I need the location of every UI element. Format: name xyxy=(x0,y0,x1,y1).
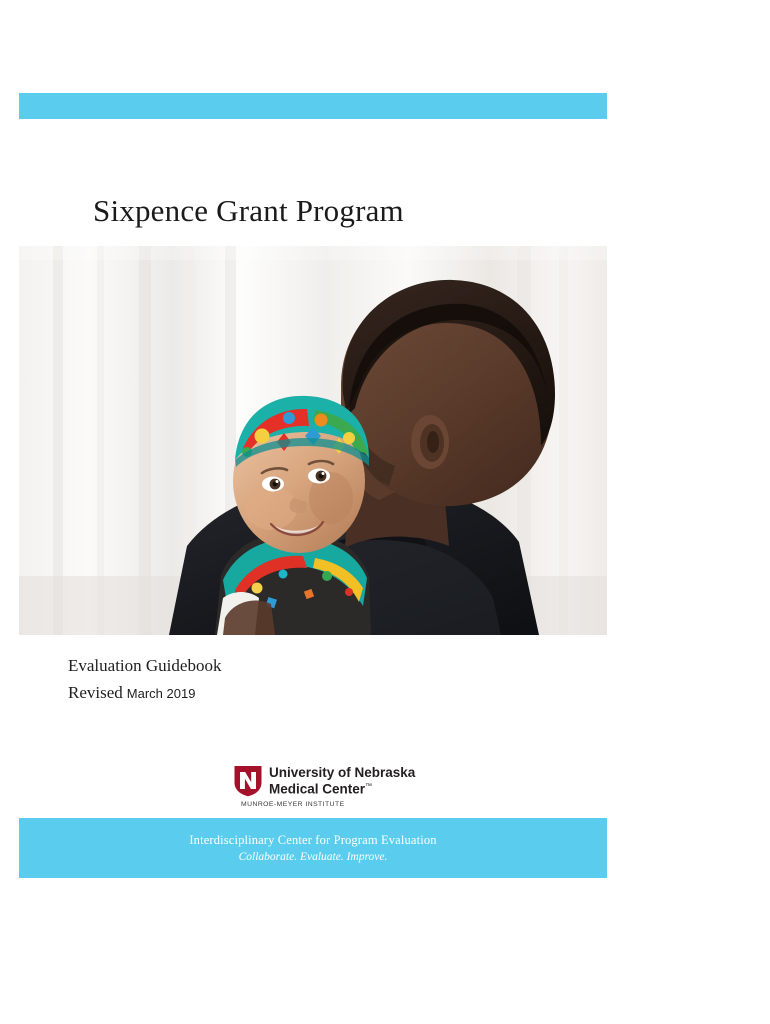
cover-photo-illustration xyxy=(19,246,607,635)
logo-text-block: University of Nebraska Medical Center™ M… xyxy=(269,765,415,808)
page-title: Sixpence Grant Program xyxy=(93,193,404,229)
trademark-symbol: ™ xyxy=(365,783,372,790)
unmc-shield-n-icon xyxy=(233,765,263,797)
logo-institute-name: MUNROE-MEYER INSTITUTE xyxy=(241,801,415,808)
top-accent-bar xyxy=(19,93,607,119)
revised-line: RevisedMarch 2019 xyxy=(68,679,221,707)
revised-label: Revised xyxy=(68,683,123,702)
logo-name-line-2: Medical Center™ xyxy=(269,780,415,797)
unmc-logo: University of Nebraska Medical Center™ M… xyxy=(233,765,398,807)
banner-title: Interdisciplinary Center for Program Eva… xyxy=(189,831,436,849)
cover-photo xyxy=(19,246,607,635)
document-cover-page: Sixpence Grant Program xyxy=(0,0,770,1024)
subtitle: Evaluation Guidebook xyxy=(68,652,221,679)
revised-date: March 2019 xyxy=(123,686,196,701)
subtitle-block: Evaluation Guidebook RevisedMarch 2019 xyxy=(68,652,221,707)
bottom-banner: Interdisciplinary Center for Program Eva… xyxy=(19,818,607,878)
banner-tagline: Collaborate. Evaluate. Improve. xyxy=(239,849,388,866)
logo-name-line-1: University of Nebraska xyxy=(269,766,415,780)
